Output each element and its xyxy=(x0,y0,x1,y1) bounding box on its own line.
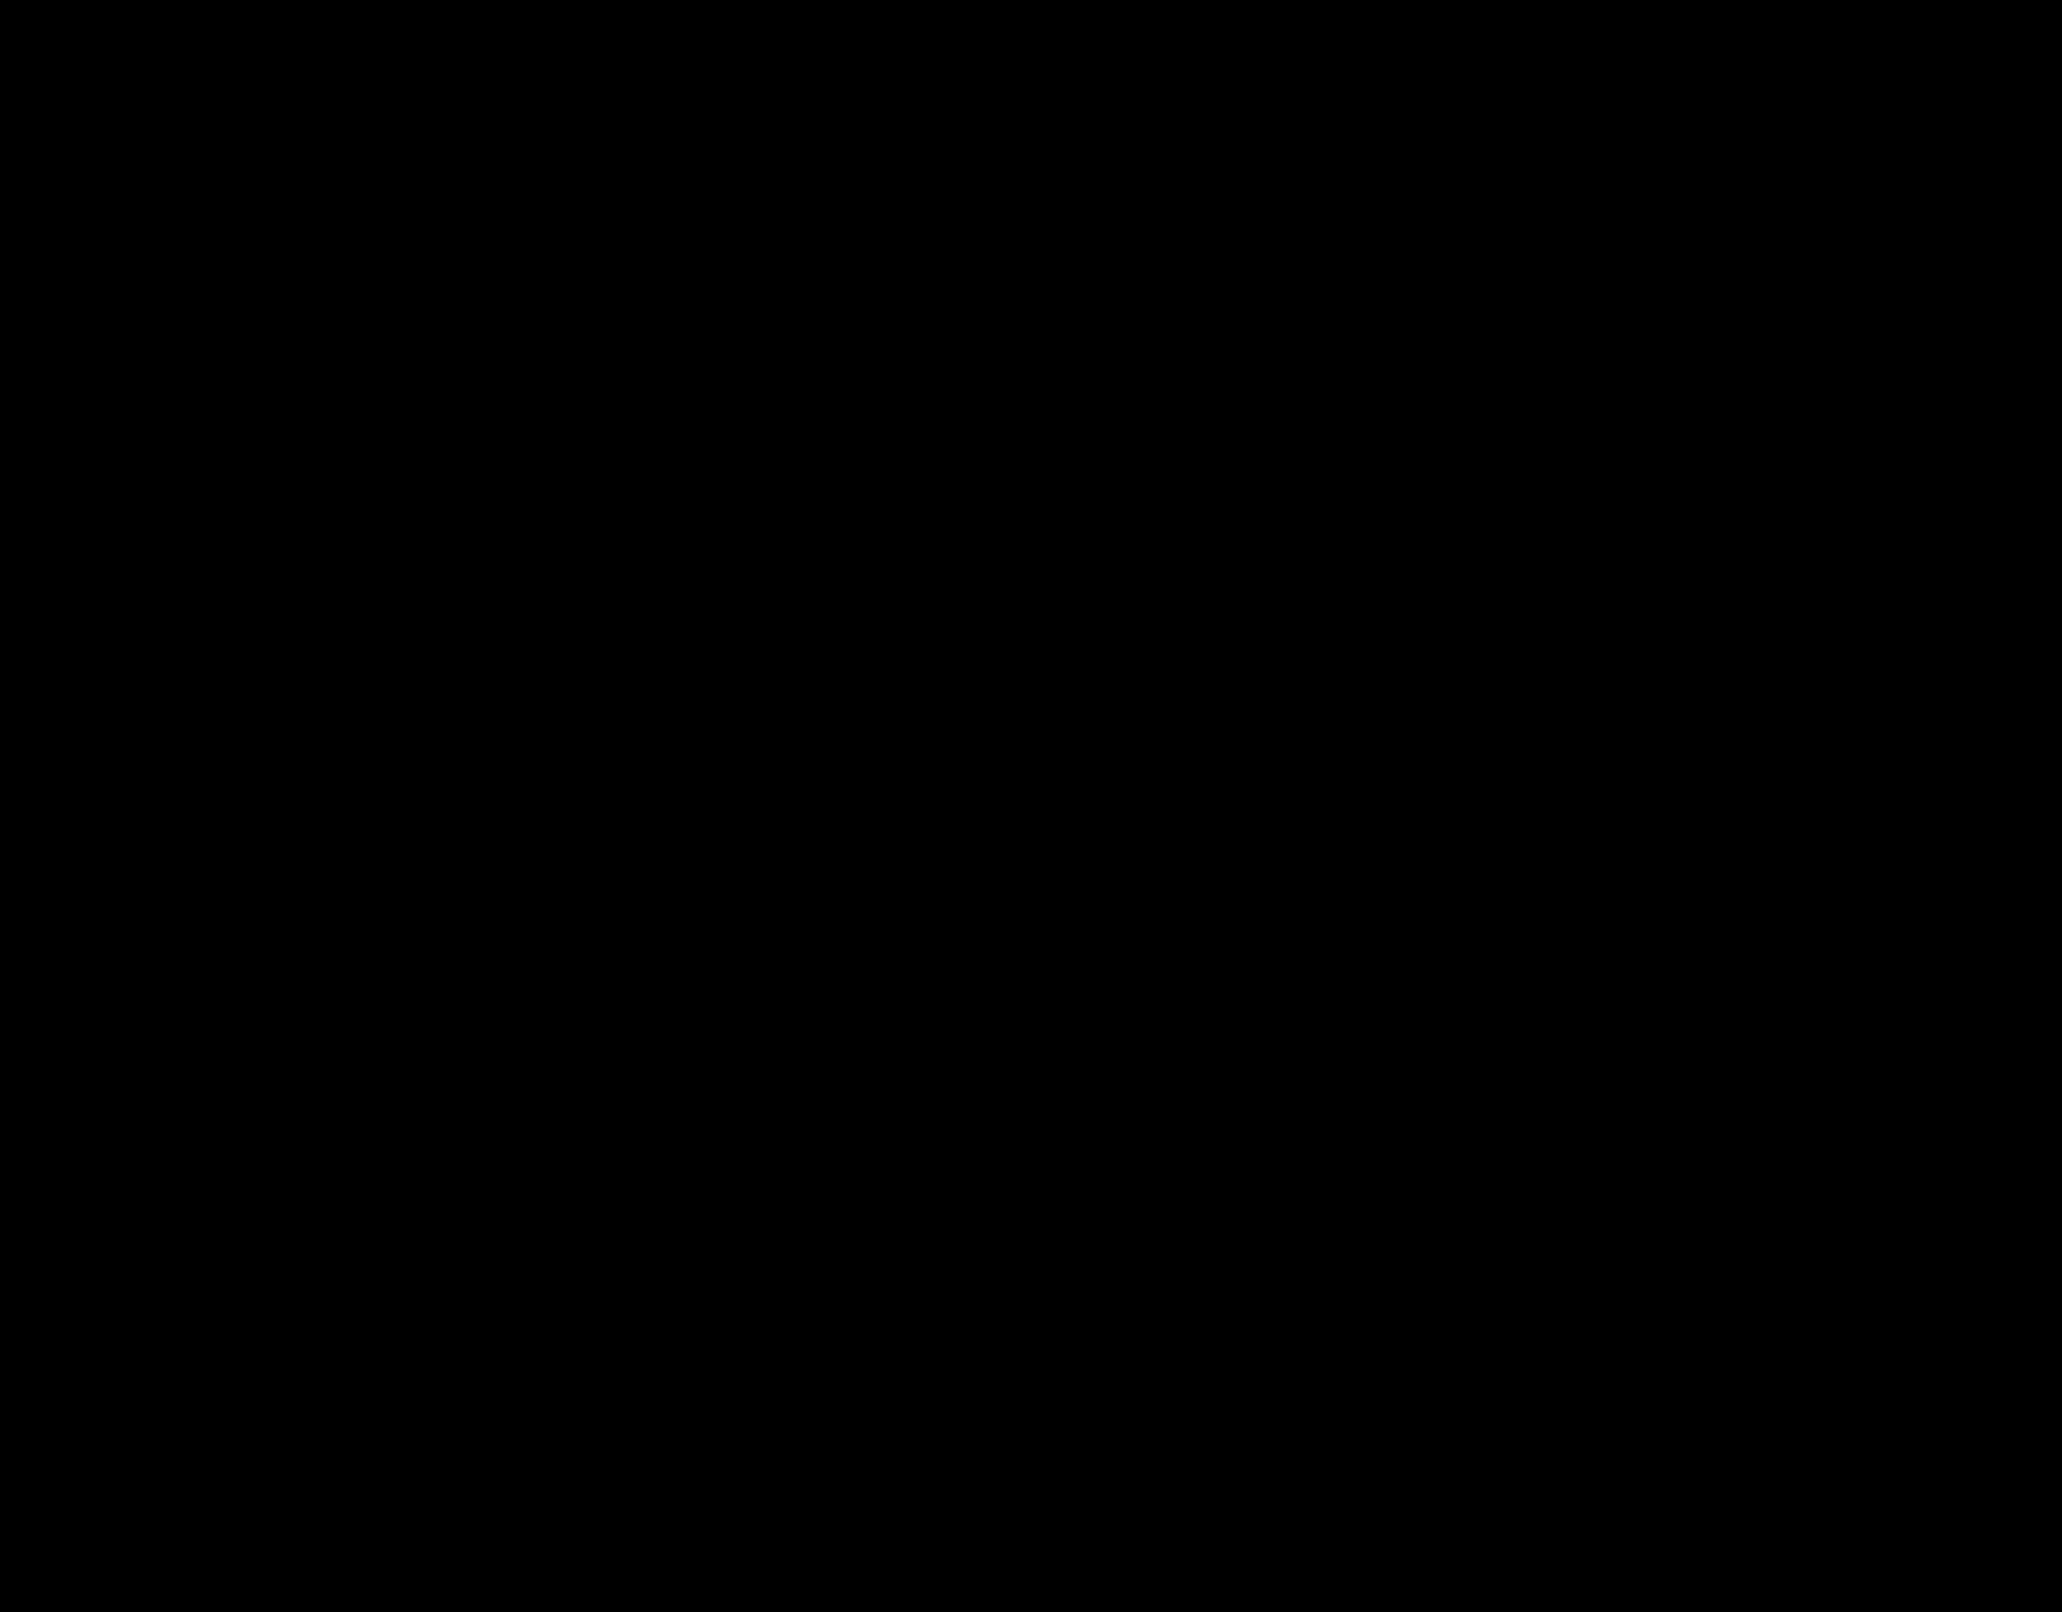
figure-root xyxy=(0,0,2062,1612)
